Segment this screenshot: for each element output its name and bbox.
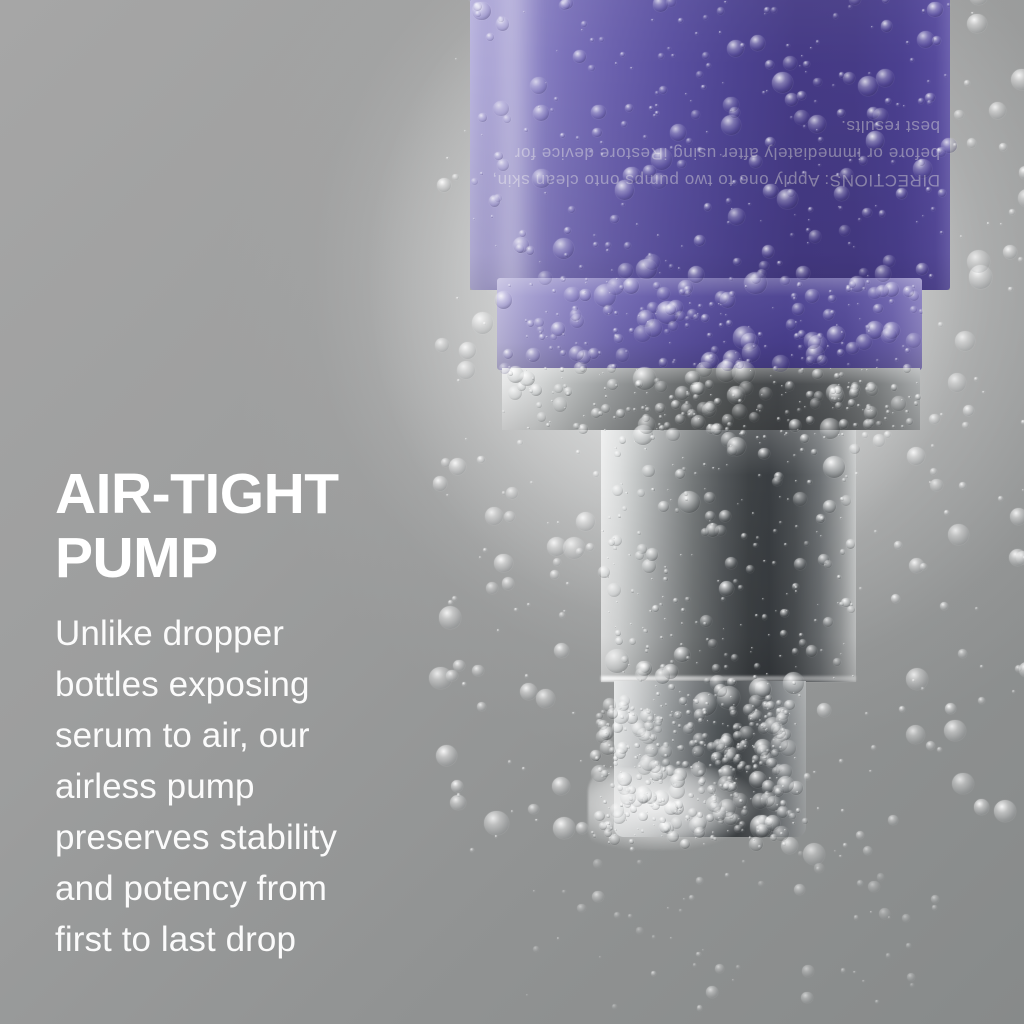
copy-block: AIR-TIGHT PUMP Unlike dropper bottles ex… <box>55 462 435 965</box>
bottle-directions-label: DIRECTIONS: Apply one to two pumps onto … <box>470 0 950 194</box>
page-title: AIR-TIGHT PUMP <box>55 462 435 590</box>
body-paragraph: Unlike dropper bottles exposing serum to… <box>55 608 435 965</box>
pump-housing <box>601 430 856 682</box>
product-feature-image: DIRECTIONS: Apply one to two pumps onto … <box>0 0 1024 1024</box>
nozzle-foam <box>588 768 788 850</box>
bottle-collar <box>497 278 922 370</box>
pump-metal-band <box>502 368 920 430</box>
